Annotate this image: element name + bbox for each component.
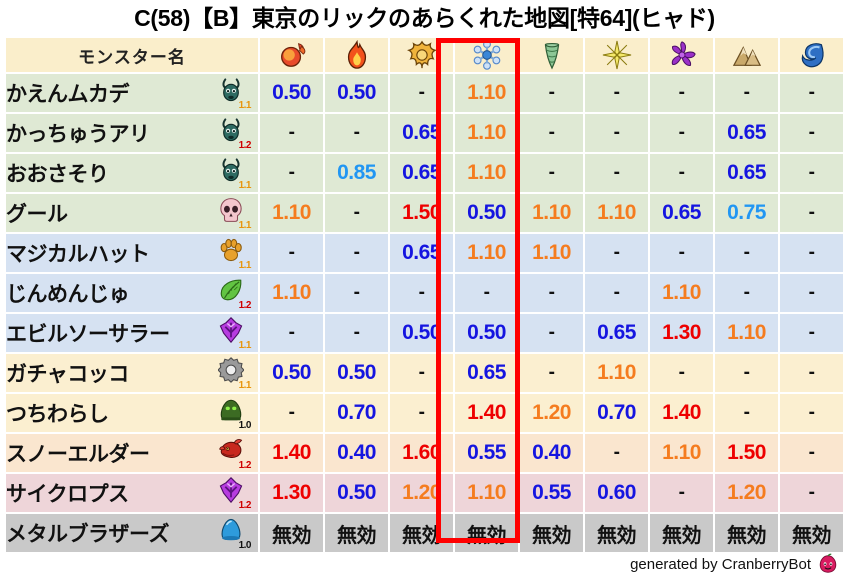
resistance-cell: 1.40 <box>455 394 518 432</box>
resistance-cell: - <box>260 314 323 352</box>
header-element-3[interactable] <box>390 38 453 72</box>
header-element-8[interactable] <box>715 38 778 72</box>
resistance-cell: - <box>585 434 648 472</box>
table-row: サイクロプス1.21.300.501.201.100.550.60-1.20- <box>6 474 843 512</box>
resistance-cell: 0.70 <box>585 394 648 432</box>
resistance-cell: 0.65 <box>715 114 778 152</box>
resistance-cell: - <box>260 114 323 152</box>
monster-version-label: 1.0 <box>239 421 251 431</box>
resistance-cell: 0.50 <box>455 314 518 352</box>
cranberry-slime-icon <box>817 553 839 575</box>
resistance-cell: 0.50 <box>260 354 323 392</box>
resistance-cell: 0.75 <box>715 194 778 232</box>
monster-name-cell[interactable]: ガチャコッコ1.1 <box>6 354 258 392</box>
resistance-cell: - <box>260 394 323 432</box>
resistance-cell: - <box>520 114 583 152</box>
resistance-cell: 1.10 <box>260 194 323 232</box>
table-row: スノーエルダー1.21.400.401.600.550.40-1.101.50- <box>6 434 843 472</box>
wave-water-icon <box>797 40 827 70</box>
monster-name-label: じんめんじゅ <box>6 278 129 308</box>
tornado-icon <box>537 40 567 70</box>
resistance-cell: 0.60 <box>585 474 648 512</box>
resistance-cell: 0.50 <box>390 314 453 352</box>
resistance-cell: - <box>780 354 843 392</box>
monster-version-label: 1.1 <box>239 261 251 271</box>
resistance-cell: 1.30 <box>650 314 713 352</box>
resistance-cell: 1.50 <box>390 194 453 232</box>
monster-name-cell[interactable]: かっちゅうアリ1.2 <box>6 114 258 152</box>
resistance-cell: 0.70 <box>325 394 388 432</box>
resistance-cell: 無効 <box>390 514 453 552</box>
header-element-9[interactable] <box>780 38 843 72</box>
monster-name-cell[interactable]: スノーエルダー1.2 <box>6 434 258 472</box>
monster-name-cell[interactable]: グール1.1 <box>6 194 258 232</box>
resistance-cell: 無効 <box>780 514 843 552</box>
monster-name-label: かえんムカデ <box>6 78 129 108</box>
monster-name-label: マジカルハット <box>6 238 150 268</box>
resistance-cell: - <box>520 314 583 352</box>
table-header-row: モンスター名 <box>6 38 843 72</box>
resistance-cell: 1.10 <box>455 154 518 192</box>
resistance-cell: - <box>780 194 843 232</box>
flame-icon <box>342 40 372 70</box>
resistance-cell: - <box>325 234 388 272</box>
monster-name-cell[interactable]: おおさそり1.1 <box>6 154 258 192</box>
resistance-cell: - <box>780 114 843 152</box>
monster-name-cell[interactable]: つちわらし1.0 <box>6 394 258 432</box>
resistance-cell: 0.40 <box>325 434 388 472</box>
monster-name-label: サイクロプス <box>6 478 129 508</box>
resistance-cell: 無効 <box>650 514 713 552</box>
table-row: メタルブラザーズ1.0無効無効無効無効無効無効無効無効無効 <box>6 514 843 552</box>
star-light-icon <box>602 40 632 70</box>
resistance-table-body: モンスター名かえんムカデ1.10.500.50-1.10-----かっちゅうアリ… <box>6 38 843 552</box>
header-monster-name: モンスター名 <box>6 38 258 72</box>
monster-name-cell[interactable]: サイクロプス1.2 <box>6 474 258 512</box>
monster-name-cell[interactable]: じんめんじゅ1.2 <box>6 274 258 312</box>
monster-name-cell[interactable]: かえんムカデ1.1 <box>6 74 258 112</box>
monster-version-label: 1.1 <box>239 181 251 191</box>
resistance-cell: 無効 <box>585 514 648 552</box>
resistance-cell: - <box>325 194 388 232</box>
resistance-cell: - <box>520 154 583 192</box>
resistance-cell: 0.65 <box>585 314 648 352</box>
explosion-icon <box>407 40 437 70</box>
resistance-cell: - <box>780 154 843 192</box>
resistance-cell: 1.10 <box>455 234 518 272</box>
resistance-cell: - <box>390 354 453 392</box>
mountains-earth-icon <box>732 40 762 70</box>
header-element-5[interactable] <box>520 38 583 72</box>
resistance-cell: 無効 <box>520 514 583 552</box>
resistance-cell: 1.10 <box>260 274 323 312</box>
resistance-cell: 1.10 <box>455 474 518 512</box>
monster-name-label: グール <box>6 198 68 228</box>
monster-name-cell[interactable]: エビルソーサラー1.1 <box>6 314 258 352</box>
resistance-cell: - <box>585 234 648 272</box>
resistance-cell: 0.65 <box>390 154 453 192</box>
table-row: エビルソーサラー1.1--0.500.50-0.651.301.10- <box>6 314 843 352</box>
monster-name-label: つちわらし <box>6 398 109 428</box>
resistance-cell: 1.40 <box>260 434 323 472</box>
monster-name-label: かっちゅうアリ <box>6 118 150 148</box>
resistance-cell: - <box>650 354 713 392</box>
resistance-cell: 0.50 <box>325 74 388 112</box>
resistance-cell: 1.20 <box>715 474 778 512</box>
monster-name-cell[interactable]: マジカルハット1.1 <box>6 234 258 272</box>
resistance-cell: - <box>715 234 778 272</box>
table-row: かえんムカデ1.10.500.50-1.10----- <box>6 74 843 112</box>
resistance-cell: - <box>325 314 388 352</box>
resistance-cell: 0.50 <box>325 354 388 392</box>
resistance-cell: - <box>585 114 648 152</box>
footer-credit: generated by CranberryBot <box>630 551 839 577</box>
resistance-cell: - <box>650 74 713 112</box>
resistance-cell: 0.50 <box>260 74 323 112</box>
header-element-2[interactable] <box>325 38 388 72</box>
monster-name-label: エビルソーサラー <box>6 318 170 348</box>
resistance-cell: - <box>780 314 843 352</box>
resistance-cell: 1.30 <box>260 474 323 512</box>
resistance-cell: 0.55 <box>520 474 583 512</box>
meteor-fireball-icon <box>277 40 307 70</box>
resistance-cell: 0.65 <box>390 114 453 152</box>
page-title: C(58)【B】東京のリックのあらくれた地図[特64](ヒャド) <box>0 2 849 34</box>
resistance-cell: - <box>780 234 843 272</box>
resistance-cell: - <box>650 154 713 192</box>
resistance-cell: - <box>780 394 843 432</box>
resistance-cell: - <box>325 274 388 312</box>
resistance-cell: - <box>260 234 323 272</box>
resistance-cell: 1.10 <box>715 314 778 352</box>
table-row: つちわらし1.0-0.70-1.401.200.701.40-- <box>6 394 843 432</box>
resistance-cell: 0.65 <box>455 354 518 392</box>
resistance-cell: 無効 <box>325 514 388 552</box>
resistance-cell: 0.50 <box>455 194 518 232</box>
monster-version-label: 1.2 <box>239 461 251 471</box>
resistance-cell: 1.10 <box>650 434 713 472</box>
resistance-cell: 0.40 <box>520 434 583 472</box>
resistance-cell: - <box>325 114 388 152</box>
table-row: おおさそり1.1-0.850.651.10---0.65- <box>6 154 843 192</box>
monster-name-label: スノーエルダー <box>6 438 150 468</box>
resistance-cell: 0.65 <box>390 234 453 272</box>
table-row: じんめんじゅ1.21.10-----1.10-- <box>6 274 843 312</box>
resistance-cell: 0.55 <box>455 434 518 472</box>
snowflake-icon <box>472 40 502 70</box>
resistance-cell: 1.20 <box>520 394 583 432</box>
resistance-cell: - <box>520 74 583 112</box>
resistance-cell: 1.60 <box>390 434 453 472</box>
resistance-cell: 1.10 <box>520 234 583 272</box>
resistance-table: モンスター名かえんムカデ1.10.500.50-1.10-----かっちゅうアリ… <box>4 36 845 554</box>
resistance-cell: - <box>390 74 453 112</box>
monster-name-label: ガチャコッコ <box>6 358 129 388</box>
dark-flower-icon <box>667 40 697 70</box>
header-element-4[interactable] <box>455 38 518 72</box>
monster-name-label: メタルブラザーズ <box>6 518 169 548</box>
table-row: マジカルハット1.1--0.651.101.10---- <box>6 234 843 272</box>
resistance-cell: - <box>390 274 453 312</box>
resistance-cell: - <box>520 274 583 312</box>
resistance-cell: 1.10 <box>585 194 648 232</box>
resistance-cell: 0.65 <box>715 154 778 192</box>
header-element-6[interactable] <box>585 38 648 72</box>
resistance-cell: - <box>780 274 843 312</box>
resistance-cell: 0.85 <box>325 154 388 192</box>
resistance-cell: - <box>585 274 648 312</box>
resistance-cell: 0.50 <box>325 474 388 512</box>
resistance-cell: - <box>650 474 713 512</box>
table-row: グール1.11.10-1.500.501.101.100.650.75- <box>6 194 843 232</box>
resistance-cell: 1.10 <box>455 114 518 152</box>
resistance-cell: - <box>715 394 778 432</box>
resistance-table-wrapper: モンスター名かえんムカデ1.10.500.50-1.10-----かっちゅうアリ… <box>4 36 845 554</box>
resistance-cell: 1.50 <box>715 434 778 472</box>
resistance-cell: - <box>260 154 323 192</box>
table-row: ガチャコッコ1.10.500.50-0.65-1.10--- <box>6 354 843 392</box>
monster-version-label: 1.2 <box>239 301 251 311</box>
monster-version-label: 1.1 <box>239 341 251 351</box>
resistance-cell: 1.10 <box>520 194 583 232</box>
resistance-cell: - <box>650 234 713 272</box>
resistance-cell: 1.10 <box>455 74 518 112</box>
monster-name-label: おおさそり <box>6 158 109 188</box>
resistance-cell: - <box>715 354 778 392</box>
resistance-cell: 1.40 <box>650 394 713 432</box>
resistance-cell: - <box>390 394 453 432</box>
monster-resistance-page: C(58)【B】東京のリックのあらくれた地図[特64](ヒャド) モンスター名か… <box>0 0 849 583</box>
resistance-cell: - <box>650 114 713 152</box>
resistance-cell: - <box>520 354 583 392</box>
resistance-cell: - <box>715 274 778 312</box>
monster-version-label: 1.1 <box>239 381 251 391</box>
footer-credit-text: generated by CranberryBot <box>630 556 811 573</box>
monster-version-label: 1.1 <box>239 221 251 231</box>
resistance-cell: 0.65 <box>650 194 713 232</box>
resistance-cell: 無効 <box>715 514 778 552</box>
resistance-cell: 無効 <box>260 514 323 552</box>
resistance-cell: - <box>455 274 518 312</box>
resistance-cell: 1.20 <box>390 474 453 512</box>
monster-name-cell[interactable]: メタルブラザーズ1.0 <box>6 514 258 552</box>
resistance-cell: - <box>585 154 648 192</box>
table-row: かっちゅうアリ1.2--0.651.10---0.65- <box>6 114 843 152</box>
resistance-cell: - <box>585 74 648 112</box>
resistance-cell: 1.10 <box>585 354 648 392</box>
header-element-7[interactable] <box>650 38 713 72</box>
resistance-cell: 1.10 <box>650 274 713 312</box>
resistance-cell: - <box>780 434 843 472</box>
monster-version-label: 1.2 <box>239 141 251 151</box>
resistance-cell: 無効 <box>455 514 518 552</box>
header-element-1[interactable] <box>260 38 323 72</box>
monster-version-label: 1.2 <box>239 501 251 511</box>
monster-version-label: 1.1 <box>239 101 251 111</box>
resistance-cell: - <box>780 474 843 512</box>
resistance-cell: - <box>715 74 778 112</box>
resistance-cell: - <box>780 74 843 112</box>
monster-version-label: 1.0 <box>239 541 251 551</box>
